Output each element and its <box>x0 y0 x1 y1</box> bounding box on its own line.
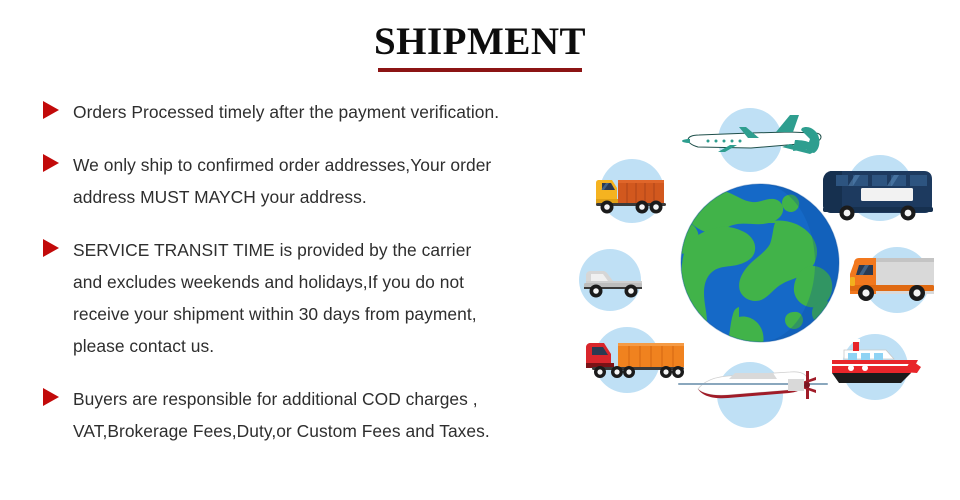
list-item: Orders Processed timely after the paymen… <box>38 96 590 128</box>
list-item-text: Orders Processed timely after the paymen… <box>73 96 590 128</box>
triangle-right-icon <box>43 101 59 119</box>
title-underline <box>378 68 582 72</box>
list-item: Buyers are responsible for additional CO… <box>38 383 590 447</box>
list-item: We only ship to confirmed order addresse… <box>38 149 590 213</box>
list-item-text: Buyers are responsible for additional CO… <box>73 383 590 447</box>
page-title: SHIPMENT <box>370 22 590 63</box>
title-block: SHIPMENT <box>0 22 960 72</box>
list-item-text: SERVICE TRANSIT TIME is provided by the … <box>73 234 590 362</box>
list-item: SERVICE TRANSIT TIME is provided by the … <box>38 234 590 362</box>
propeller-plane-icon <box>678 371 828 399</box>
list-item-text: We only ship to confirmed order addresse… <box>73 149 590 213</box>
triangle-right-icon <box>43 154 59 172</box>
triangle-right-icon <box>43 388 59 406</box>
global-shipping-illustration <box>570 95 950 445</box>
shipping-policy-list: Orders Processed timely after the paymen… <box>38 96 590 447</box>
triangle-right-icon <box>43 239 59 257</box>
